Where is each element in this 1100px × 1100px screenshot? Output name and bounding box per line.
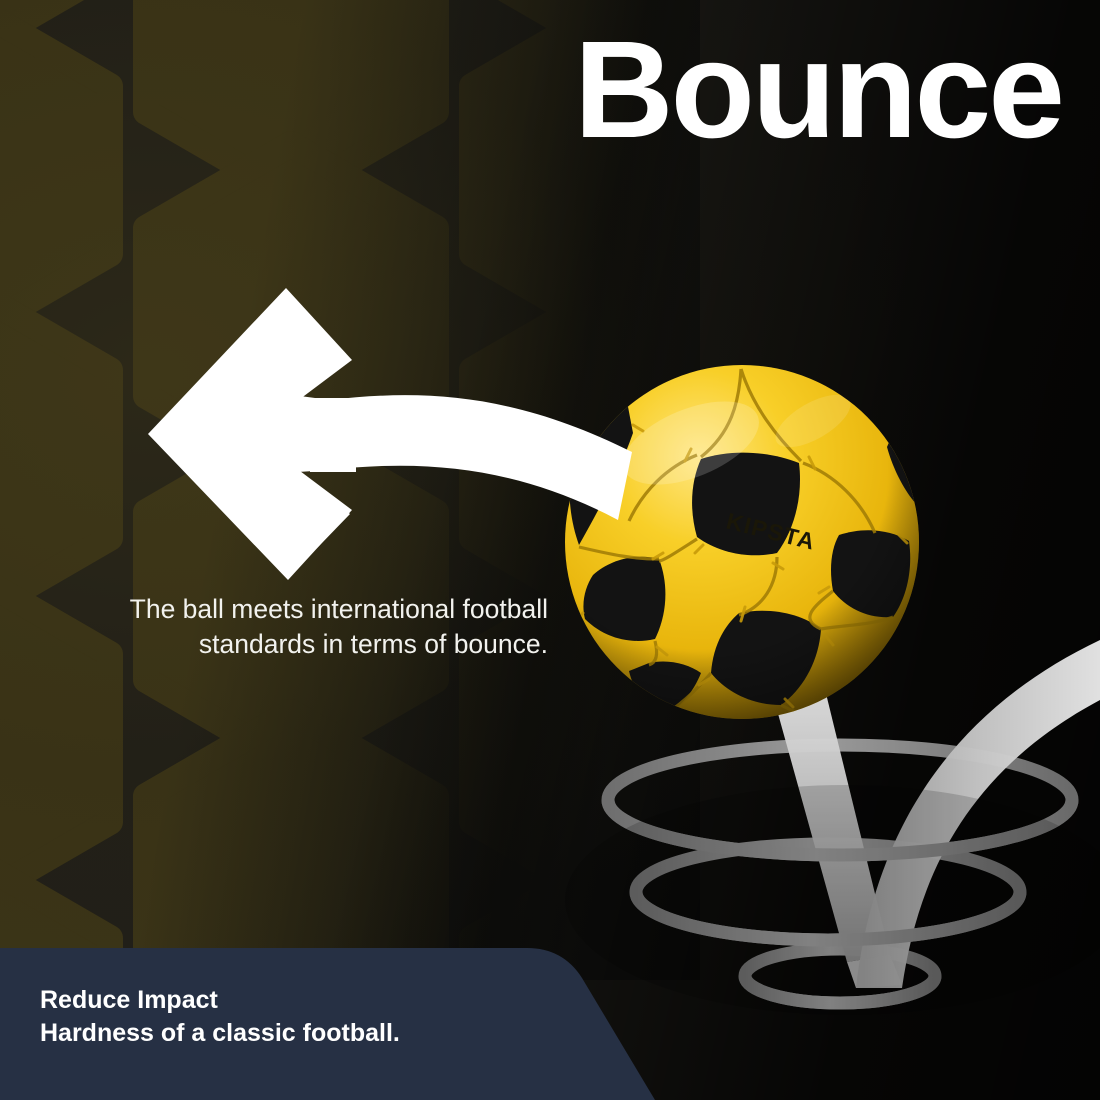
banner-subheading: Hardness of a classic football. <box>40 1017 400 1050</box>
bottom-banner: Reduce Impact Hardness of a classic foot… <box>0 948 700 1100</box>
banner-heading: Reduce Impact <box>40 984 400 1017</box>
football-ball: KIPSTA <box>563 363 921 721</box>
banner-text-block: Reduce Impact Hardness of a classic foot… <box>40 984 400 1050</box>
feature-description-line-1: The ball meets international football <box>18 592 548 627</box>
feature-description: The ball meets international football st… <box>18 592 548 662</box>
page-title: Bounce <box>574 18 1062 163</box>
feature-description-line-2: standards in terms of bounce. <box>18 627 548 662</box>
product-feature-card: KIPSTA Bounce The ball <box>0 0 1100 1100</box>
